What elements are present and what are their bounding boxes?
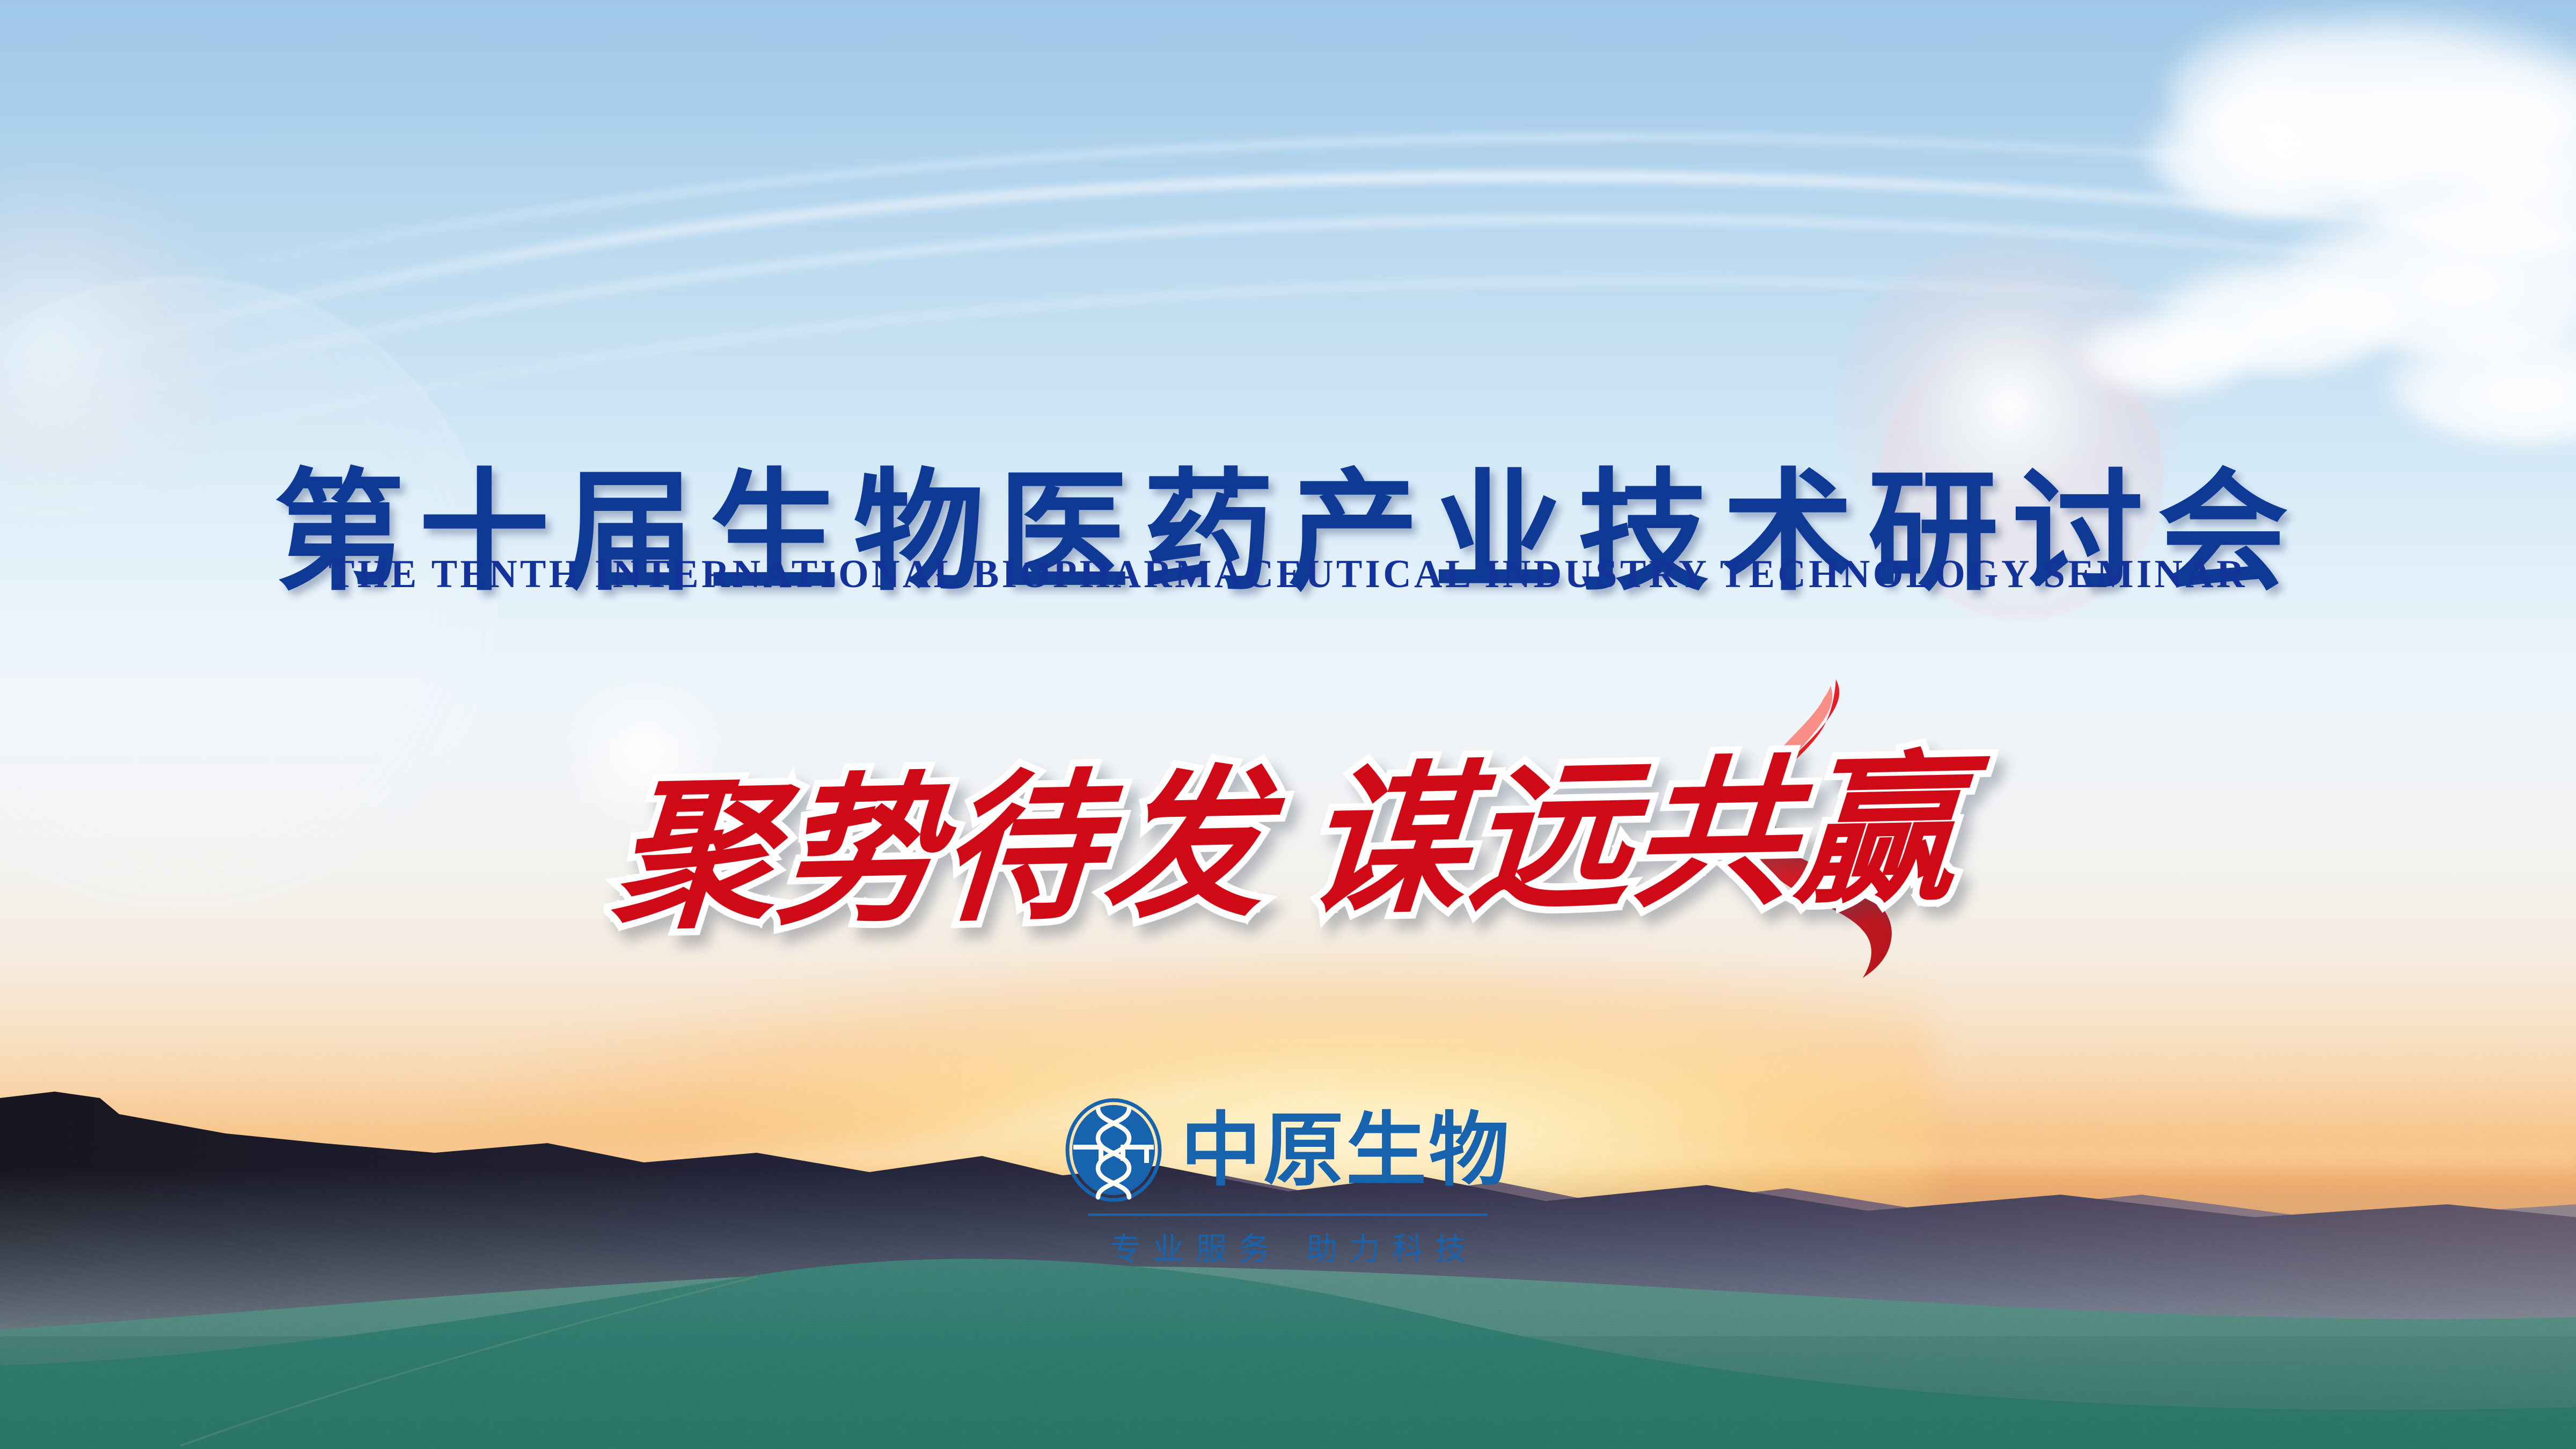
- english-subtitle: THE TENTH INTERNATIONAL BIOPHARMACEUTICA…: [26, 552, 2550, 597]
- calligraphy-slogan: 聚势待发谋远共赢: [0, 686, 2576, 972]
- dna-helix-oval-icon: [1065, 1097, 1162, 1203]
- slogan-left: 聚势待发: [608, 756, 1274, 948]
- slogan-right: 谋远共赢: [1300, 742, 1966, 933]
- tagline-right: 助力科技: [1306, 1232, 1478, 1267]
- slogan-block: 聚势待发谋远共赢: [0, 680, 2576, 1002]
- logo-company-name: 中原生物: [1181, 1110, 1511, 1190]
- company-logo: 中原生物 专业服务助力科技: [1065, 1097, 1511, 1269]
- logo-divider: [1088, 1213, 1488, 1216]
- tagline-left: 专业服务: [1110, 1232, 1282, 1267]
- conference-backdrop: 第十届生物医药产业技术研讨会 THE TENTH INTERNATIONAL B…: [0, 0, 2576, 1449]
- logo-tagline: 专业服务助力科技: [1098, 1224, 1478, 1269]
